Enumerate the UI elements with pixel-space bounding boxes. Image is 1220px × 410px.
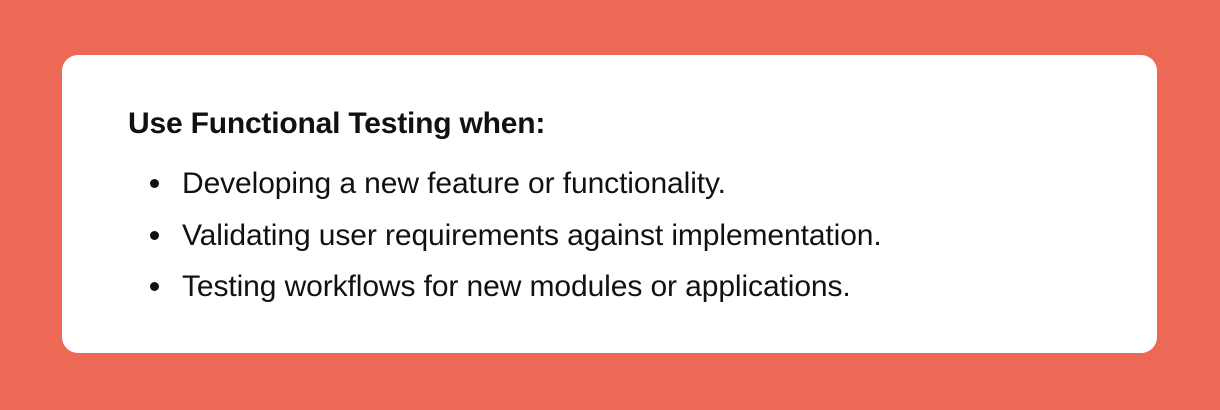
bullet-dot-icon [149,210,159,262]
page-canvas: Use Functional Testing when: Developing … [0,0,1220,410]
list-item-label: Testing workflows for new modules or app… [182,270,851,303]
list-item: Validating user requirements against imp… [128,210,1137,262]
bullet-dot-icon [149,158,159,210]
card-body: Use Functional Testing when: Developing … [128,106,1137,313]
content-card: Use Functional Testing when: Developing … [62,55,1157,353]
list-item: Testing workflows for new modules or app… [128,261,1137,313]
list-item: Developing a new feature or functionalit… [128,158,1137,210]
bullet-dot-icon [149,261,159,313]
card-heading: Use Functional Testing when: [128,106,1137,142]
list-item-label: Validating user requirements against imp… [182,219,882,252]
use-case-list: Developing a new feature or functionalit… [128,158,1137,313]
list-item-label: Developing a new feature or functionalit… [182,167,726,200]
